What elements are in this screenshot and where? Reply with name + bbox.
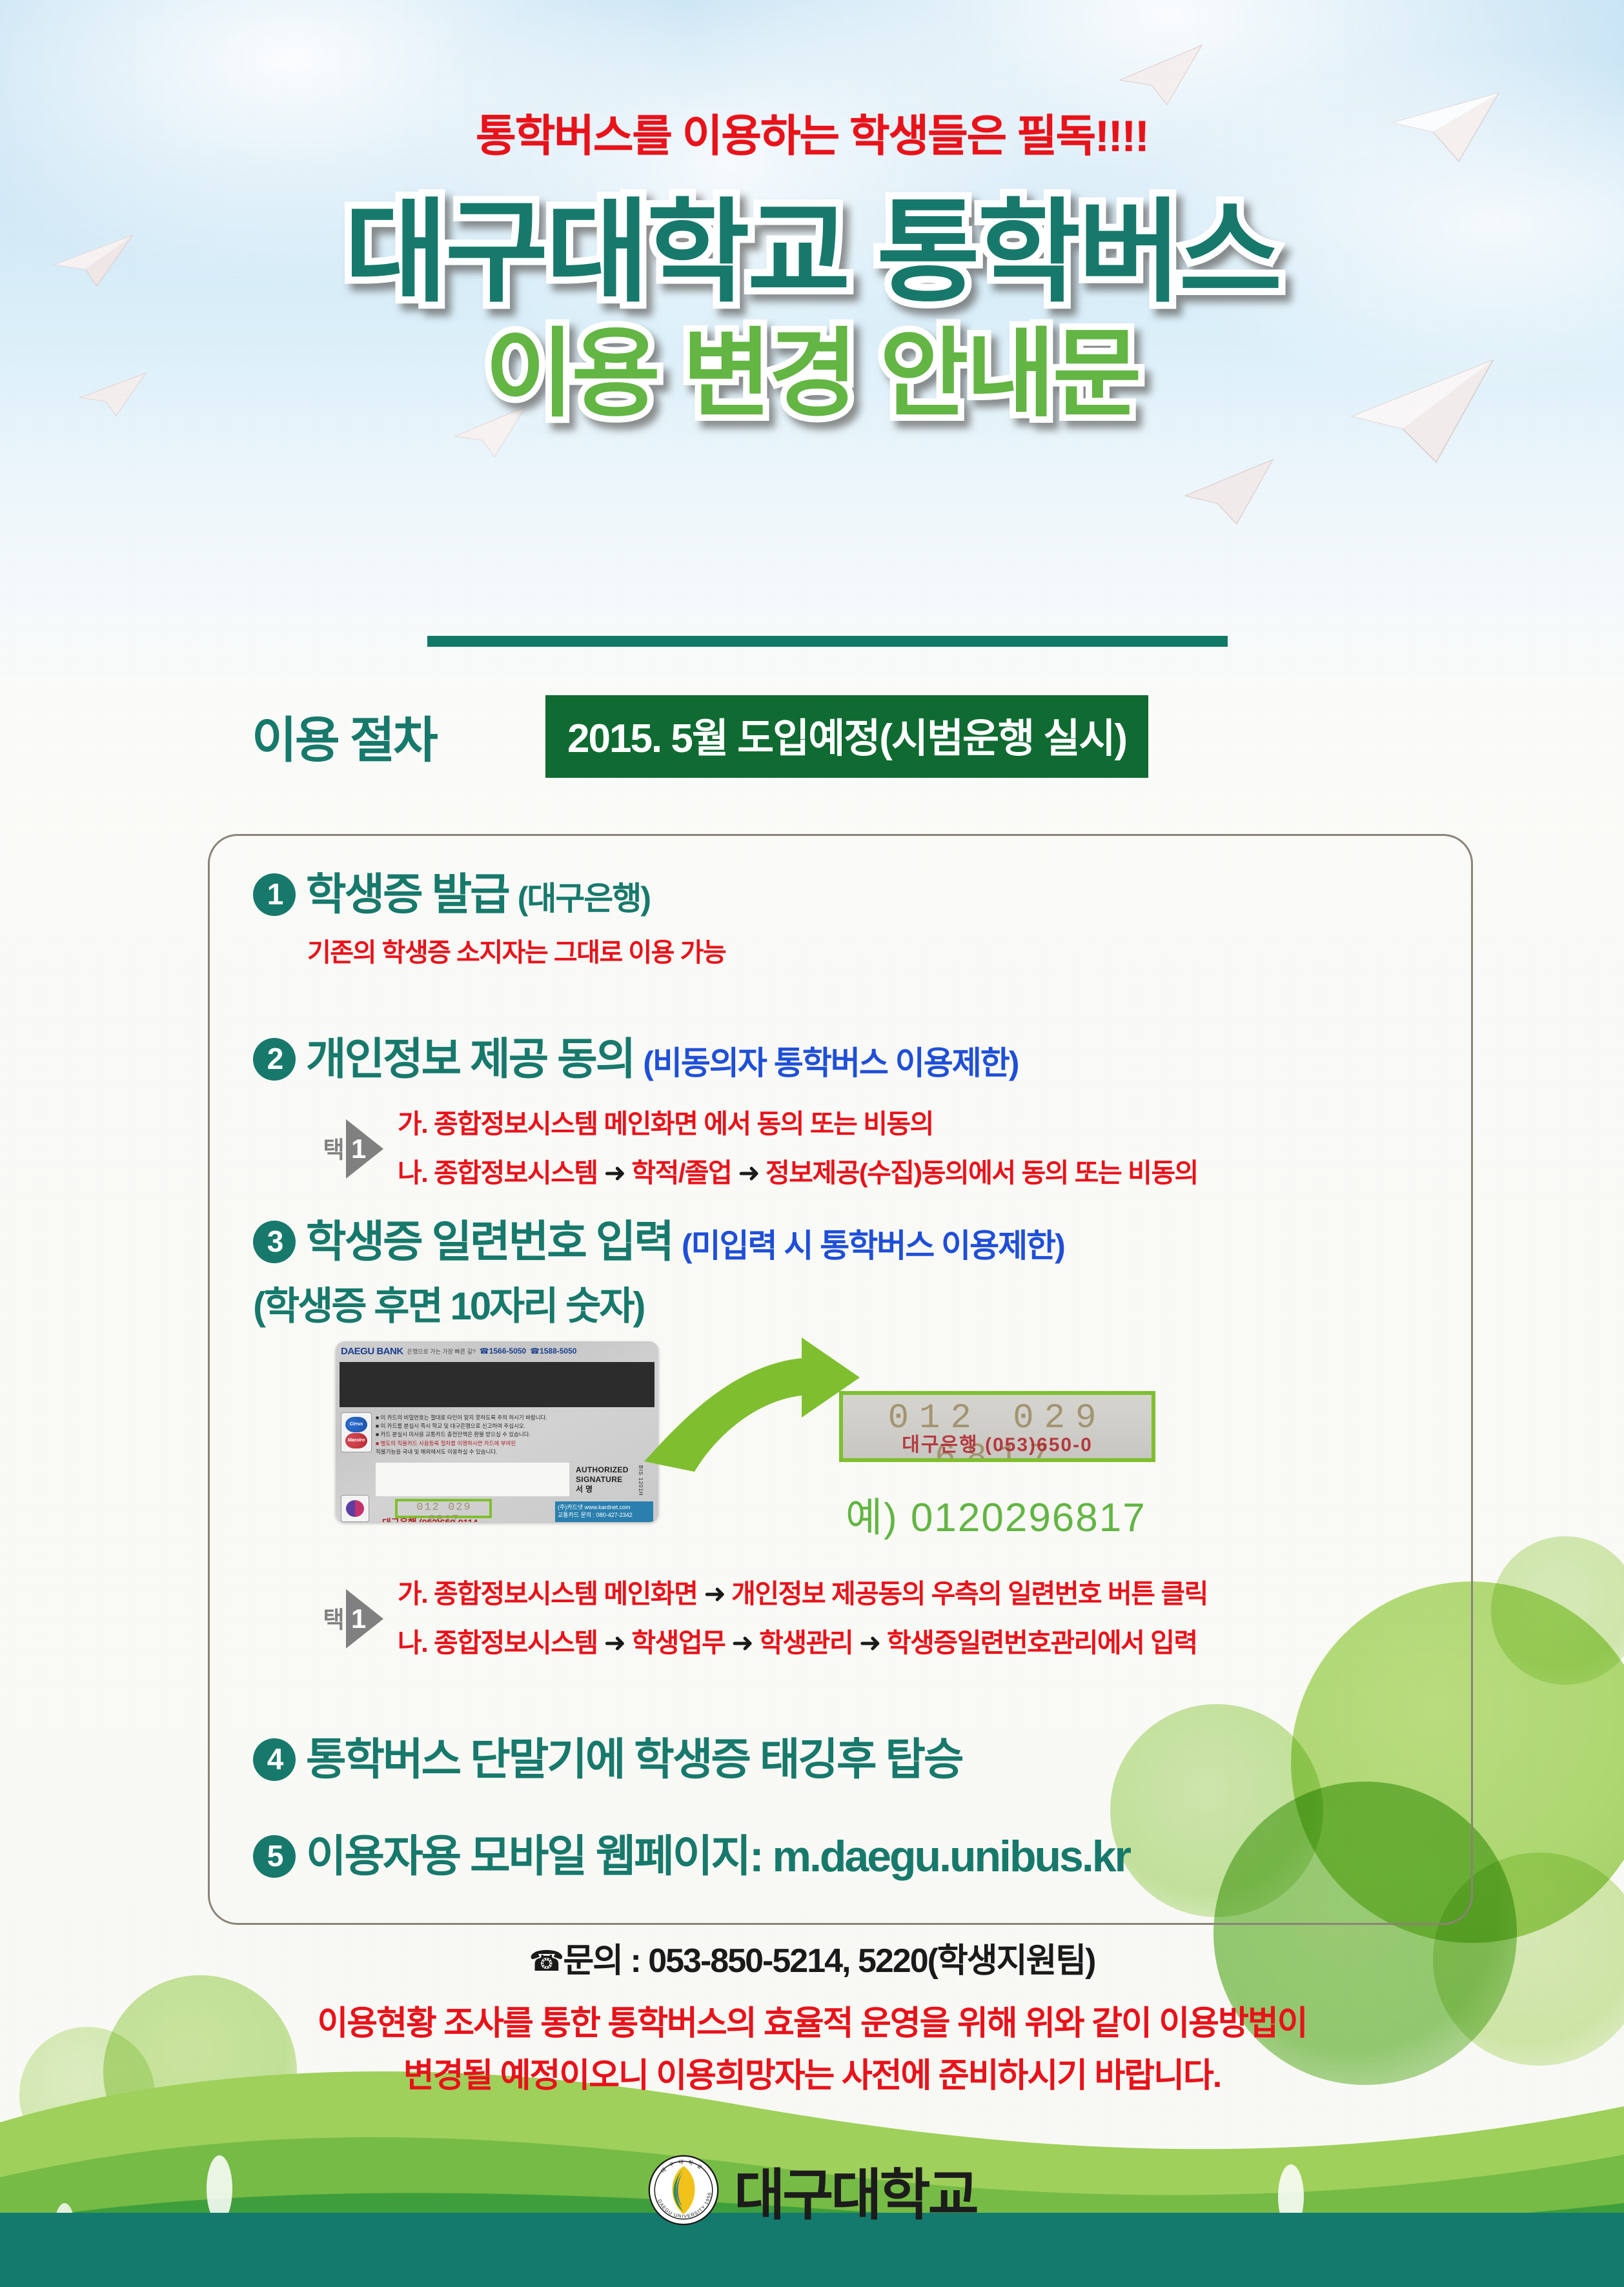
card-term-5: 직불기능을 국내 및 해외에서도 이용하실 수 있습니다.: [376, 1448, 589, 1456]
magnetic-stripe: [340, 1362, 655, 1407]
procedure-label: 이용 절차: [252, 700, 436, 771]
step-2-option-b-part2: 정보제공(수집)동의에서 동의 또는 비동의: [766, 1158, 1198, 1188]
step-2-main-text: 개인정보 제공 동의: [306, 1035, 634, 1084]
serial-zoom-callout: 012 029 6817 대구은행 (053)650-0: [839, 1391, 1155, 1462]
pick-one-label: 택: [320, 1607, 343, 1631]
authorized-line: AUTHORIZED: [576, 1465, 629, 1475]
step-3-option-b-part2: 학생관리: [759, 1628, 853, 1658]
step-3-options: 가. 종합정보시스템 메인화면➜개인정보 제공동의 우측의 일련번호 버튼 클릭…: [398, 1570, 1208, 1668]
step-2-option-a-text: 가. 종합정보시스템 메인화면 에서 동의 또는 비동의: [398, 1109, 933, 1139]
step-2-options: 가. 종합정보시스템 메인화면 에서 동의 또는 비동의 나. 종합정보시스템➜…: [398, 1100, 1198, 1198]
step-2-heading: 2개인정보 제공 동의(비동의자 통학버스 이용제한): [253, 1023, 1018, 1087]
step-3-subtext: (학생증 후면 10자리 숫자): [253, 1275, 1064, 1331]
contact-line: ☎문의 : 053-850-5214, 5220(학생지원팀): [0, 1933, 1624, 1982]
card-term-1: ■ 이 카드의 비밀번호는 절대로 타인이 알지 못하도록 주의 하시기 바랍니…: [376, 1414, 589, 1422]
pick-one-triangle-icon: 1: [346, 1119, 383, 1179]
step-1-subtext: 기존의 학생증 소지자는 그대로 이용 가능: [307, 931, 726, 969]
pick-one-number: 1: [351, 1135, 366, 1163]
notice-block: 이용현황 조사를 통한 통학버스의 효율적 운영을 위해 위와 같이 이용방법이…: [0, 1998, 1624, 2102]
poster-root: 통학버스를 이용하는 학생들은 필독!!!! 대구대학교 통학버스 이용 변경 …: [0, 0, 1624, 2287]
step-3-pick-one-group: 택 1 가. 종합정보시스템 메인화면➜개인정보 제공동의 우측의 일련번호 버…: [320, 1570, 1208, 1668]
signature-line: SIGNATURE: [576, 1475, 629, 1485]
card-term-4: ■ 별도의 직불카드 사용등록 절차를 이행하시면 카드에 부여된: [376, 1439, 589, 1448]
student-card-image: DAEGU BANK 은행으로 가는 가장 빠른 길? ☎1566-5050 ☎…: [336, 1341, 658, 1522]
step-1-main-text: 학생증 발급: [306, 870, 509, 919]
arrow-right-icon: ➜: [598, 1628, 632, 1658]
callout-bank-line: 대구은행 (053)650-0: [843, 1428, 1152, 1457]
pick-one-triangle-icon: 1: [346, 1589, 383, 1649]
step-2-number: 2: [253, 1038, 296, 1081]
bank-tel-1: ☎1566-5050: [480, 1347, 526, 1356]
pick-one-label: 택: [320, 1137, 343, 1161]
daegu-university-seal-icon: 대 구 대 학 교 DAEGU UNIVERSITY 1956: [647, 2154, 720, 2226]
step-3-paren: (미입력 시 통학버스 이용제한): [682, 1228, 1064, 1264]
contact-text: 문의 : 053-850-5214, 5220(학생지원팀): [563, 1942, 1095, 1980]
card-term-2: ■ 이 카드를 분실시 즉시 학교 및 대구은행으로 신고하여 주십시오.: [376, 1422, 589, 1430]
step-3-option-b: 나. 종합정보시스템➜학생업무➜학생관리➜학생증일련번호관리에서 입력: [398, 1619, 1208, 1668]
step-4-heading: 4통학버스 단말기에 학생증 태깅후 탑승: [253, 1723, 962, 1787]
step-2: 2개인정보 제공 동의(비동의자 통학버스 이용제한) 택 1 가. 종합정보시…: [253, 1023, 1018, 1087]
tmoney-icon: [346, 1500, 364, 1517]
step-3-main-text: 학생증 일련번호 입력: [306, 1217, 673, 1266]
step-5-main-text[interactable]: 이용자용 모바일 웹페이지: m.daegu.unibus.kr: [306, 1832, 1130, 1881]
card-back-face: DAEGU BANK 은행으로 가는 가장 빠른 길? ☎1566-5050 ☎…: [336, 1341, 658, 1522]
step-3-option-b-part1: 학생업무: [631, 1628, 725, 1658]
arrow-right-icon: ➜: [598, 1158, 632, 1188]
phone-icon: ☎: [529, 1946, 563, 1977]
step-3-option-a-part1: 개인정보 제공동의 우측의 일련번호 버튼 클릭: [731, 1579, 1208, 1609]
kicker-headline: 통학버스를 이용하는 학생들은 필독!!!!: [0, 100, 1624, 164]
serial-example-text: 예) 0120296817: [846, 1485, 1146, 1543]
authorized-signature-label: AUTHORIZED SIGNATURE 서 명: [576, 1465, 629, 1494]
step-3-heading: 3학생증 일련번호 입력(미입력 시 통학버스 이용제한): [253, 1206, 1064, 1270]
poster-title: 대구대학교 통학버스 이용 변경 안내문: [0, 194, 1624, 425]
step-3-option-a: 가. 종합정보시스템 메인화면➜개인정보 제공동의 우측의 일련번호 버튼 클릭: [398, 1570, 1208, 1619]
step-2-option-b-part1: 학적/졸업: [631, 1158, 731, 1188]
maestro-icon: Maestro: [345, 1433, 367, 1448]
step-3-option-b-prefix: 나. 종합정보시스템: [398, 1628, 598, 1658]
notice-line-2: 변경될 예정이오니 이용희망자는 사전에 준비하시기 바랍니다.: [0, 2050, 1624, 2102]
card-terms-text: ■ 이 카드의 비밀번호는 절대로 타인이 알지 못하도록 주의 하시기 바랍니…: [376, 1414, 589, 1456]
arrow-right-icon: ➜: [697, 1579, 731, 1609]
step-5-heading[interactable]: 5이용자용 모바일 웹페이지: m.daegu.unibus.kr: [253, 1820, 1130, 1884]
kardnet-box: (주)카드넷 www.kardnet.com 교통카드 문의 : 080-427…: [555, 1501, 653, 1522]
kardnet-line-1: (주)카드넷 www.kardnet.com: [558, 1503, 651, 1511]
step-2-pick-one-group: 택 1 가. 종합정보시스템 메인화면 에서 동의 또는 비동의 나. 종합정보…: [320, 1100, 1198, 1198]
title-divider: [427, 636, 1228, 647]
step-4: 4통학버스 단말기에 학생증 태깅후 탑승: [253, 1723, 962, 1787]
step-4-main-text: 통학버스 단말기에 학생증 태깅후 탑승: [306, 1735, 962, 1784]
tmoney-logo: [341, 1495, 369, 1522]
title-line-1: 대구대학교 통학버스: [0, 194, 1624, 312]
arrow-right-icon: ➜: [853, 1628, 887, 1658]
step-1-heading: 1학생증 발급(대구은행): [253, 859, 726, 922]
bank-slogan: 은행으로 가는 가장 빠른 길?: [407, 1347, 476, 1356]
bank-tel-2: ☎1588-5050: [530, 1347, 576, 1356]
cirrus-icon: Cirrus: [345, 1417, 367, 1432]
step-1-paren: (대구은행): [518, 880, 650, 917]
step-4-number: 4: [253, 1738, 296, 1781]
poster-content: 통학버스를 이용하는 학생들은 필독!!!! 대구대학교 통학버스 이용 변경 …: [0, 0, 1624, 2287]
signature-panel: [376, 1463, 569, 1496]
pick-one-number: 1: [351, 1605, 366, 1632]
title-line-2: 이용 변경 안내문: [0, 323, 1624, 425]
signature-ko-line: 서 명: [576, 1485, 629, 1494]
step-2-paren: (비동의자 통학버스 이용제한): [643, 1045, 1018, 1081]
card-term-3: ■ 카드 분실시 미사용 교통카드 충전잔액은 환불 받으실 수 있습니다.: [376, 1430, 589, 1439]
daegu-bank-logo: DAEGU BANK: [341, 1346, 403, 1357]
procedure-date-badge: 2015. 5월 도입예정(시범운행 실시): [545, 695, 1148, 778]
step-2-option-a: 가. 종합정보시스템 메인화면 에서 동의 또는 비동의: [398, 1100, 1198, 1149]
kardnet-line-2: 교통카드 문의 : 080-427-2342: [558, 1511, 651, 1519]
step-5-number: 5: [253, 1835, 296, 1878]
notice-line-1: 이용현황 조사를 통한 통학버스의 효율적 운영을 위해 위와 같이 이용방법이: [0, 1998, 1624, 2050]
university-brand: 대 구 대 학 교 DAEGU UNIVERSITY 1956 대구대학교: [0, 2150, 1624, 2230]
step-2-option-b-prefix: 나. 종합정보시스템: [398, 1158, 598, 1188]
university-name: 대구대학교: [734, 2150, 977, 2230]
step-3-option-b-part3: 학생증일련번호관리에서 입력: [887, 1628, 1197, 1658]
step-3: 3학생증 일련번호 입력(미입력 시 통학버스 이용제한) (학생증 후면 10…: [253, 1206, 1064, 1331]
step-1: 1학생증 발급(대구은행) 기존의 학생증 소지자는 그대로 이용 가능: [253, 859, 726, 969]
arrow-right-icon: ➜: [731, 1158, 766, 1188]
step-3-option-a-prefix: 가. 종합정보시스템 메인화면: [398, 1579, 697, 1609]
arrow-right-icon: ➜: [725, 1628, 759, 1658]
cirrus-maestro-logo: Cirrus Maestro: [341, 1412, 372, 1452]
step-2-option-b: 나. 종합정보시스템➜학적/졸업➜정보제공(수집)동의에서 동의 또는 비동의: [398, 1149, 1198, 1198]
bank-callcenter-line: 대구은행 (053)650-0114: [382, 1516, 478, 1522]
step-1-number: 1: [253, 873, 296, 916]
step-3-number: 3: [253, 1221, 296, 1263]
card-bank-header: DAEGU BANK 은행으로 가는 가장 빠른 길? ☎1566-5050 ☎…: [336, 1341, 658, 1361]
step-5: 5이용자용 모바일 웹페이지: m.daegu.unibus.kr: [253, 1820, 1130, 1884]
